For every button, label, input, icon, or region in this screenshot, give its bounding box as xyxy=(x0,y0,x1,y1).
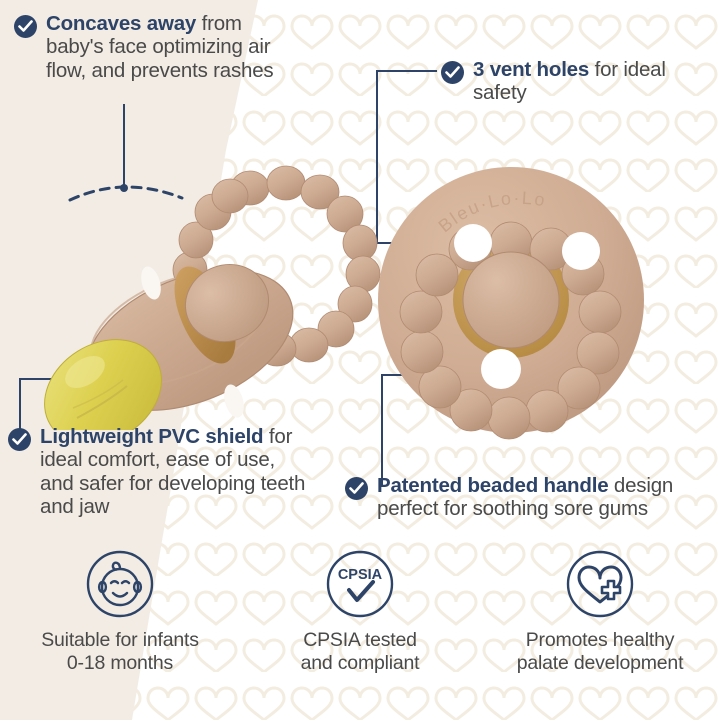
badge-label: Promotes healthy palate development xyxy=(517,629,684,674)
cpsia-seal-text: CPSIA xyxy=(338,567,383,583)
badge-cpsia-tested: CPSIA CPSIA tested and compliant xyxy=(240,548,480,688)
callout-beaded-handle: Patented beaded handle design perfect fo… xyxy=(345,474,715,521)
badge-line-2: 0-18 months xyxy=(41,652,199,675)
infographic-canvas: Bleu·Lo·Lo xyxy=(0,0,720,720)
callout-concaves-away: Concaves away from baby's face optimizin… xyxy=(14,12,284,82)
pacifier-side-view-image xyxy=(15,140,385,430)
badge-suitable-infants: Suitable for infants 0-18 months xyxy=(0,548,240,688)
badge-line-1: Promotes healthy xyxy=(517,629,684,652)
badge-label: Suitable for infants 0-18 months xyxy=(41,629,199,674)
callout-pvc-shield: Lightweight PVC shield for ideal comfort… xyxy=(8,425,308,518)
callout-bold: Concaves away xyxy=(46,12,196,35)
badge-line-1: CPSIA tested xyxy=(301,629,420,652)
callout-bold: Lightweight PVC shield xyxy=(40,425,263,448)
callout-text: Patented beaded handle design perfect fo… xyxy=(377,474,715,521)
check-circle-icon xyxy=(345,477,368,500)
heart-plus-icon xyxy=(564,548,636,620)
callout-text: Lightweight PVC shield for ideal comfort… xyxy=(40,425,308,518)
cpsia-seal-icon: CPSIA xyxy=(324,548,396,620)
check-circle-icon xyxy=(14,15,37,38)
badge-healthy-palate: Promotes healthy palate development xyxy=(480,548,720,688)
callout-text: Concaves away from baby's face optimizin… xyxy=(46,12,284,82)
badge-line-2: palate development xyxy=(517,652,684,675)
check-mark-icon xyxy=(349,582,373,600)
center-knob-front xyxy=(463,252,559,348)
callout-bold: 3 vent holes xyxy=(473,58,589,81)
badge-line-1: Suitable for infants xyxy=(41,629,199,652)
plus-icon xyxy=(602,581,620,599)
callout-text: 3 vent holes for ideal safety xyxy=(473,58,701,105)
callout-vent-holes: 3 vent holes for ideal safety xyxy=(441,58,701,105)
check-circle-icon xyxy=(441,61,464,84)
badge-line-2: and compliant xyxy=(301,652,420,675)
callout-bold: Patented beaded handle xyxy=(377,474,608,497)
check-circle-icon xyxy=(8,428,31,451)
baby-face-icon xyxy=(84,548,156,620)
feature-badge-row: Suitable for infants 0-18 months CPSIA C… xyxy=(0,548,720,688)
pacifier-front-view-image: Bleu·Lo·Lo xyxy=(378,148,713,483)
badge-label: CPSIA tested and compliant xyxy=(301,629,420,674)
